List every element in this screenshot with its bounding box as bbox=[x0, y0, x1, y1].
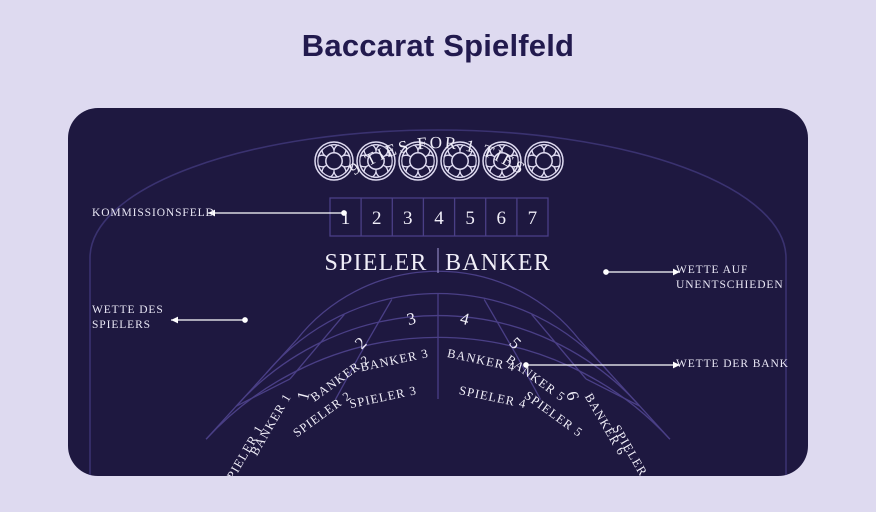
commission-cell-2: 2 bbox=[372, 208, 382, 229]
commission-cell-5: 5 bbox=[465, 208, 475, 229]
casino-chip-icon[interactable] bbox=[315, 142, 353, 180]
casino-chip-icon[interactable] bbox=[525, 142, 563, 180]
player-header[interactable]: SPIELER bbox=[324, 250, 427, 276]
callout-arrowheads bbox=[171, 210, 680, 369]
banker-header[interactable]: BANKER bbox=[445, 250, 551, 276]
tie-seat-3[interactable]: 3 bbox=[405, 309, 418, 330]
arrow-player bbox=[171, 317, 178, 324]
leader-tie-dot bbox=[604, 270, 608, 274]
leader-commission-dot bbox=[342, 211, 346, 215]
bet-area-headers: SPIELER BANKER bbox=[324, 248, 550, 276]
callout-player-bet-line1: WETTE DES bbox=[92, 303, 164, 318]
screenshot-root: Baccarat Spielfeld bbox=[0, 0, 876, 512]
leader-bank-dot bbox=[524, 363, 528, 367]
commission-cell-6: 6 bbox=[497, 208, 507, 229]
callout-commission-line1: KOMMISSIONSFELD bbox=[92, 206, 215, 221]
banker-seat-3[interactable]: BANKER 3 bbox=[359, 346, 430, 374]
callout-leader-lines bbox=[171, 211, 680, 367]
callout-bank-bet-line1: WETTE DER BANK bbox=[676, 357, 789, 372]
callout-commission: KOMMISSIONSFELD bbox=[92, 206, 215, 221]
callout-player-bet: WETTE DES SPIELERS bbox=[92, 303, 164, 333]
tie-seat-5[interactable]: 5 bbox=[506, 333, 525, 352]
page-title: Baccarat Spielfeld bbox=[0, 28, 876, 64]
callout-tie-bet-line2: UNENTSCHIEDEN bbox=[676, 278, 784, 293]
tie-seat-2[interactable]: 2 bbox=[351, 333, 370, 352]
callout-player-bet-line2: SPIELERS bbox=[92, 318, 164, 333]
player-seat-4[interactable]: SPIELER 4 bbox=[458, 383, 528, 411]
callout-tie-bet: WETTE AUF UNENTSCHIEDEN bbox=[676, 263, 784, 293]
commission-cell-7: 7 bbox=[528, 208, 538, 229]
commission-cell-labels: 1 2 3 4 5 6 7 bbox=[341, 208, 537, 229]
callout-tie-bet-line1: WETTE AUF bbox=[676, 263, 784, 278]
tie-seat-4[interactable]: 4 bbox=[458, 309, 472, 330]
leader-player-dot bbox=[243, 318, 247, 322]
player-seat-3[interactable]: SPIELER 3 bbox=[348, 383, 418, 411]
callout-bank-bet: WETTE DER BANK bbox=[676, 357, 789, 372]
commission-cell-4: 4 bbox=[434, 208, 444, 229]
commission-cell-3: 3 bbox=[403, 208, 413, 229]
